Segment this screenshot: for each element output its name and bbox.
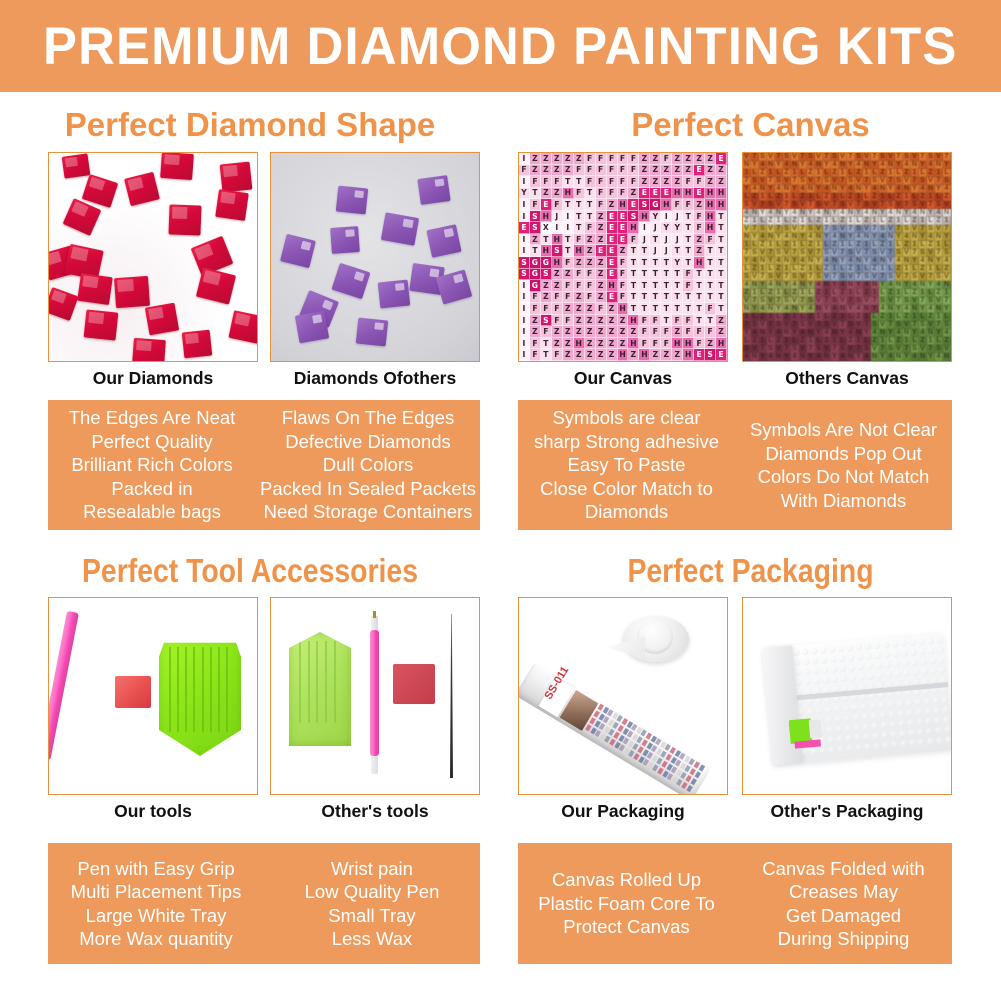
canvas-symbol-cell: Z bbox=[661, 165, 672, 177]
canvas-symbol-cell: T bbox=[541, 349, 552, 361]
canvas-symbol-cell: Z bbox=[563, 326, 574, 338]
canvas-symbol-cell: T bbox=[694, 315, 705, 327]
canvas-symbol-cell: F bbox=[618, 280, 629, 292]
canvas-symbol-cell: F bbox=[683, 315, 694, 327]
canvas-symbol-cell: F bbox=[607, 165, 618, 177]
canvas-symbol-cell: S bbox=[705, 349, 716, 361]
bubble bbox=[906, 709, 914, 717]
bubble bbox=[875, 662, 883, 670]
canvas-symbol-cell: F bbox=[585, 280, 596, 292]
canvas-symbol-cell: F bbox=[650, 315, 661, 327]
canvas-symbol-cell: E bbox=[607, 234, 618, 246]
bubble bbox=[892, 650, 900, 658]
diamond-drill bbox=[336, 186, 369, 215]
bubble bbox=[900, 740, 908, 748]
bubble bbox=[864, 743, 872, 751]
canvas-symbol-cell: J bbox=[672, 211, 683, 223]
canvas-symbol-cell: S bbox=[541, 315, 552, 327]
bubble bbox=[847, 654, 855, 662]
canvas-symbol-cell: H bbox=[607, 280, 618, 292]
bubble bbox=[860, 703, 868, 711]
tray-grooves bbox=[289, 632, 351, 746]
canvas-symbol-cell: T bbox=[661, 315, 672, 327]
canvas-symbol-cell: F bbox=[661, 326, 672, 338]
bubble bbox=[927, 637, 935, 645]
canvas-symbol-cell: Y bbox=[519, 188, 530, 200]
canvas-symbol-cell: T bbox=[639, 245, 650, 257]
bubble bbox=[909, 739, 917, 747]
section-title-tool-accessories: Perfect Tool Accessories bbox=[35, 552, 465, 590]
feature-line: Packed in bbox=[111, 477, 192, 501]
canvas-symbol-cell: I bbox=[519, 280, 530, 292]
canvas-symbol-cell: T bbox=[650, 269, 661, 281]
canvas-symbol-cell: T bbox=[661, 303, 672, 315]
canvas-symbol-cell: H bbox=[716, 199, 727, 211]
canvas-symbol-cell: F bbox=[563, 280, 574, 292]
bubble bbox=[902, 659, 910, 667]
canvas-symbol-cell: E bbox=[628, 199, 639, 211]
canvas-symbol-cell: Z bbox=[574, 326, 585, 338]
bubble bbox=[899, 730, 907, 738]
canvas-symbol-cell: E bbox=[519, 222, 530, 234]
canvas-symbol-cell: F bbox=[639, 326, 650, 338]
panel-diamond-shape: The Edges Are NeatPerfect QualityBrillia… bbox=[48, 400, 480, 530]
feature-line: Symbols Are Not Clear bbox=[750, 418, 937, 442]
canvas-symbol-cell: T bbox=[716, 292, 727, 304]
canvas-symbol-cell: S bbox=[519, 269, 530, 281]
canvas-symbol-cell: Z bbox=[672, 165, 683, 177]
bubble bbox=[945, 736, 952, 744]
bubble bbox=[816, 707, 824, 715]
canvas-symbol-cell: Z bbox=[574, 315, 585, 327]
caption-other-diamonds: Diamonds Ofothers bbox=[270, 368, 480, 389]
diamond-drill bbox=[417, 175, 450, 205]
canvas-symbol-cell: Z bbox=[607, 199, 618, 211]
feature-line: Canvas Folded with bbox=[762, 857, 924, 881]
bubble bbox=[825, 716, 833, 724]
canvas-symbol-cell: I bbox=[661, 211, 672, 223]
bubble bbox=[941, 696, 949, 704]
canvas-symbol-cell: H bbox=[628, 222, 639, 234]
diamond-drill bbox=[160, 152, 194, 180]
canvas-symbol-cell: Z bbox=[683, 165, 694, 177]
canvas-symbol-cell: S bbox=[639, 199, 650, 211]
bubble bbox=[829, 656, 837, 664]
canvas-symbol-cell: T bbox=[628, 245, 639, 257]
bubble bbox=[853, 724, 861, 732]
canvas-symbol-cell: F bbox=[705, 234, 716, 246]
our-diamonds-photo bbox=[48, 152, 258, 362]
canvas-symbol-cell: F bbox=[574, 165, 585, 177]
canvas-symbol-cell: H bbox=[705, 211, 716, 223]
caption-other-tools: Other's tools bbox=[270, 801, 480, 822]
bubble bbox=[912, 669, 920, 677]
bubble bbox=[858, 673, 866, 681]
bubble bbox=[856, 653, 864, 661]
bubble bbox=[884, 661, 892, 669]
canvas-symbol-cell: Z bbox=[618, 338, 629, 350]
canvas-symbol-cell: Z bbox=[618, 315, 629, 327]
bubble bbox=[907, 719, 915, 727]
canvas-symbol-cell: Z bbox=[552, 326, 563, 338]
canvas-symbol-cell: T bbox=[574, 222, 585, 234]
canvas-symbol-cell: Z bbox=[672, 153, 683, 165]
bubble bbox=[844, 725, 852, 733]
canvas-symbol-cell: T bbox=[694, 269, 705, 281]
canvas-symbol-cell: E bbox=[607, 211, 618, 223]
canvas-symbol-cell: J bbox=[672, 234, 683, 246]
canvas-symbol-cell: Z bbox=[596, 211, 607, 223]
bubble bbox=[944, 726, 952, 734]
canvas-symbol-cell: F bbox=[574, 269, 585, 281]
caption-other-canvas: Others Canvas bbox=[742, 368, 952, 389]
canvas-symbol-cell: T bbox=[650, 257, 661, 269]
our-canvas-photo: IZZZZZFFFFFZZFZZZZEFZZZZFFFFFFZZZZZEZZIF… bbox=[518, 152, 728, 362]
canvas-symbol-cell: H bbox=[618, 199, 629, 211]
canvas-symbol-cell: T bbox=[650, 303, 661, 315]
bubble bbox=[873, 642, 881, 650]
canvas-symbol-cell: E bbox=[607, 292, 618, 304]
feature-line: Need Storage Containers bbox=[264, 500, 473, 524]
bubble bbox=[930, 667, 938, 675]
bubble bbox=[821, 666, 829, 674]
canvas-symbol-cell: T bbox=[563, 199, 574, 211]
wax-square bbox=[115, 676, 151, 708]
caption-other-packaging: Other's Packaging bbox=[742, 801, 952, 822]
bubble bbox=[911, 659, 919, 667]
canvas-symbol-cell: I bbox=[563, 211, 574, 223]
feature-line: Plastic Foam Core To bbox=[538, 892, 715, 916]
canvas-symbol-cell: Z bbox=[541, 153, 552, 165]
canvas-symbol-cell: I bbox=[519, 211, 530, 223]
diamond-drill bbox=[378, 280, 411, 309]
canvas-symbol-cell: T bbox=[541, 338, 552, 350]
canvas-symbol-cell: I bbox=[519, 303, 530, 315]
canvas-symbol-cell: T bbox=[683, 245, 694, 257]
canvas-symbol-cell: T bbox=[694, 303, 705, 315]
bubble bbox=[936, 636, 944, 644]
diamond-drill bbox=[84, 309, 119, 340]
canvas-symbol-cell: Z bbox=[596, 292, 607, 304]
canvas-symbol-cell: T bbox=[694, 292, 705, 304]
canvas-symbol-cell: Z bbox=[563, 153, 574, 165]
bubble bbox=[855, 744, 863, 752]
bubble bbox=[933, 707, 941, 715]
canvas-symbol-cell: T bbox=[563, 245, 574, 257]
bubble bbox=[851, 704, 859, 712]
bubble bbox=[915, 708, 923, 716]
feature-line: Symbols are clear bbox=[552, 406, 700, 430]
bubble bbox=[871, 722, 879, 730]
canvas-symbol-cell: F bbox=[585, 292, 596, 304]
panel-column-ours: Canvas Rolled UpPlastic Foam Core ToProt… bbox=[518, 843, 735, 964]
panel-column-ours: Pen with Easy GripMulti Placement TipsLa… bbox=[48, 843, 264, 964]
panel-column-others: Wrist painLow Quality PenSmall TrayLess … bbox=[264, 843, 480, 964]
canvas-symbol-cell: Z bbox=[628, 349, 639, 361]
bubble bbox=[882, 641, 890, 649]
bubble bbox=[822, 676, 830, 684]
canvas-symbol-cell: Z bbox=[661, 349, 672, 361]
canvas-symbol-cell: S bbox=[530, 211, 541, 223]
canvas-symbol-cell: I bbox=[519, 199, 530, 211]
canvas-symbol-cell: H bbox=[628, 338, 639, 350]
bubble bbox=[827, 736, 835, 744]
canvas-symbol-cell: Z bbox=[607, 326, 618, 338]
canvas-symbol-cell: Z bbox=[574, 303, 585, 315]
canvas-symbol-cell: F bbox=[563, 315, 574, 327]
canvas-symbol-cell: E bbox=[618, 211, 629, 223]
canvas-symbol-cell: T bbox=[716, 211, 727, 223]
canvas-symbol-cell: H bbox=[618, 303, 629, 315]
canvas-symbol-cell: F bbox=[530, 199, 541, 211]
canvas-symbol-cell: F bbox=[530, 349, 541, 361]
bubble bbox=[936, 737, 944, 745]
canvas-symbol-cell: Z bbox=[639, 176, 650, 188]
canvas-symbol-cell: T bbox=[574, 199, 585, 211]
bubble bbox=[935, 727, 943, 735]
canvas-symbol-cell: E bbox=[661, 188, 672, 200]
panel-column-ours: The Edges Are NeatPerfect QualityBrillia… bbox=[48, 400, 256, 530]
canvas-symbol-cell: G bbox=[541, 257, 552, 269]
canvas-symbol-cell: Z bbox=[705, 153, 716, 165]
canvas-symbol-cell: F bbox=[596, 303, 607, 315]
bubble bbox=[929, 657, 937, 665]
canvas-symbol-cell: F bbox=[694, 338, 705, 350]
canvas-symbol-cell: T bbox=[683, 211, 694, 223]
canvas-symbol-cell: I bbox=[519, 234, 530, 246]
canvas-symbol-cell: S bbox=[628, 211, 639, 223]
canvas-symbol-cell: S bbox=[552, 245, 563, 257]
other-packaging-photo bbox=[742, 597, 952, 795]
bubble bbox=[872, 732, 880, 740]
canvas-symbol-cell: F bbox=[705, 303, 716, 315]
canvas-symbol-cell: F bbox=[596, 165, 607, 177]
canvas-symbol-cell: T bbox=[628, 257, 639, 269]
canvas-symbol-cell: T bbox=[683, 292, 694, 304]
bubble bbox=[842, 705, 850, 713]
canvas-symbol-cell: T bbox=[639, 303, 650, 315]
caption-our-tools: Our tools bbox=[48, 801, 258, 822]
bubble bbox=[812, 667, 820, 675]
canvas-symbol-cell: Z bbox=[596, 222, 607, 234]
bubble bbox=[916, 718, 924, 726]
canvas-symbol-cell: H bbox=[716, 188, 727, 200]
canvas-symbol-cell: T bbox=[705, 269, 716, 281]
bubble bbox=[873, 742, 881, 750]
diamond-drill bbox=[132, 338, 166, 362]
canvas-symbol-cell: F bbox=[530, 303, 541, 315]
canvas-symbol-cell: F bbox=[661, 338, 672, 350]
feature-line: Resealable bags bbox=[83, 500, 221, 524]
canvas-symbol-cell: T bbox=[563, 176, 574, 188]
canvas-symbol-cell: H bbox=[574, 338, 585, 350]
mailer-contents bbox=[789, 717, 826, 754]
bubble bbox=[928, 647, 936, 655]
bubble bbox=[890, 731, 898, 739]
bubble bbox=[852, 714, 860, 722]
canvas-symbol-cell: T bbox=[563, 234, 574, 246]
canvas-symbol-cell: Z bbox=[607, 315, 618, 327]
bubble bbox=[813, 677, 821, 685]
canvas-symbol-cell: Z bbox=[530, 165, 541, 177]
canvas-symbol-cell: Z bbox=[596, 326, 607, 338]
tube-pattern-cell bbox=[690, 778, 697, 785]
bubble bbox=[843, 715, 851, 723]
canvas-symbol-cell: E bbox=[607, 222, 618, 234]
canvas-symbol-cell: Z bbox=[552, 188, 563, 200]
feature-line: Less Wax bbox=[332, 927, 413, 951]
canvas-symbol-cell: H bbox=[683, 338, 694, 350]
canvas-symbol-cell: G bbox=[530, 269, 541, 281]
canvas-symbol-cell: I bbox=[519, 292, 530, 304]
bubble bbox=[927, 738, 935, 746]
diamond-drill bbox=[182, 330, 213, 359]
canvas-symbol-cell: F bbox=[530, 292, 541, 304]
canvas-symbol-cell: Z bbox=[585, 257, 596, 269]
bubble bbox=[937, 646, 945, 654]
canvas-symbol-cell: E bbox=[618, 222, 629, 234]
canvas-symbol-cell: T bbox=[628, 303, 639, 315]
feature-line: sharp Strong adhesive bbox=[534, 430, 719, 454]
feature-line: Defective Diamonds bbox=[285, 430, 451, 454]
canvas-symbol-cell: S bbox=[530, 222, 541, 234]
canvas-symbol-cell: F bbox=[694, 326, 705, 338]
diamond-drill bbox=[114, 276, 150, 308]
canvas-symbol-cell: E bbox=[694, 165, 705, 177]
canvas-symbol-cell: T bbox=[705, 257, 716, 269]
canvas-symbol-cell: T bbox=[530, 188, 541, 200]
feature-line: During Shipping bbox=[778, 927, 910, 951]
canvas-symbol-cell: J bbox=[552, 211, 563, 223]
diamond-drill bbox=[145, 303, 179, 336]
canvas-symbol-cell: T bbox=[672, 292, 683, 304]
tube-pattern-cell bbox=[686, 785, 693, 792]
bubble bbox=[810, 647, 818, 655]
canvas-symbol-cell: T bbox=[683, 257, 694, 269]
bubble bbox=[878, 702, 886, 710]
canvas-symbol-cell: T bbox=[694, 280, 705, 292]
canvas-symbol-cell: Z bbox=[672, 326, 683, 338]
tube-pattern-cell bbox=[698, 764, 705, 771]
other-tools-photo bbox=[270, 597, 480, 795]
bubble bbox=[828, 746, 836, 754]
canvas-symbol-cell: I bbox=[519, 153, 530, 165]
bubble bbox=[867, 673, 875, 681]
bubble bbox=[881, 732, 889, 740]
canvas-symbol-cell: F bbox=[607, 153, 618, 165]
bubble bbox=[925, 718, 933, 726]
canvas-symbol-cell: F bbox=[541, 176, 552, 188]
section-title-packaging: Perfect Packaging bbox=[535, 552, 966, 590]
canvas-symbol-cell: F bbox=[618, 188, 629, 200]
canvas-symbol-cell: Z bbox=[694, 234, 705, 246]
bubble bbox=[918, 638, 926, 646]
our-packaging-photo: SS-011 bbox=[518, 597, 728, 795]
canvas-symbol-cell: Z bbox=[585, 234, 596, 246]
canvas-symbol-cell: F bbox=[683, 326, 694, 338]
feature-line: The Edges Are Neat bbox=[69, 406, 236, 430]
section-title-canvas: Perfect Canvas bbox=[500, 106, 1001, 144]
canvas-symbol-cell: H bbox=[672, 188, 683, 200]
bubble bbox=[811, 657, 819, 665]
feature-line: Diamonds bbox=[585, 500, 668, 524]
canvas-symbol-cell: Z bbox=[596, 269, 607, 281]
bubble bbox=[918, 738, 926, 746]
feature-line: Brilliant Rich Colors bbox=[71, 453, 232, 477]
canvas-symbol-cell: T bbox=[650, 234, 661, 246]
canvas-symbol-cell: Z bbox=[628, 326, 639, 338]
canvas-symbol-cell: F bbox=[596, 199, 607, 211]
feature-line: Protect Canvas bbox=[563, 915, 689, 939]
diamond-drill bbox=[330, 226, 360, 254]
canvas-symbol-cell: F bbox=[683, 280, 694, 292]
canvas-symbol-cell: F bbox=[694, 211, 705, 223]
canvas-symbol-cell: Z bbox=[650, 176, 661, 188]
bubble bbox=[840, 675, 848, 683]
canvas-symbol-cell: F bbox=[563, 292, 574, 304]
canvas-symbol-cell: Z bbox=[585, 349, 596, 361]
canvas-symbol-cell: F bbox=[705, 326, 716, 338]
canvas-symbol-cell: T bbox=[639, 269, 650, 281]
canvas-symbol-cell: F bbox=[541, 326, 552, 338]
canvas-symbol-cell: F bbox=[607, 188, 618, 200]
bubble bbox=[836, 735, 844, 743]
canvas-symbol-cell: T bbox=[661, 280, 672, 292]
canvas-symbol-cell: F bbox=[639, 338, 650, 350]
canvas-symbol-cell: T bbox=[683, 222, 694, 234]
canvas-symbol-cell: Z bbox=[716, 176, 727, 188]
canvas-symbol-cell: T bbox=[530, 245, 541, 257]
caption-our-diamonds: Our Diamonds bbox=[48, 368, 258, 389]
canvas-symbol-cell: F bbox=[618, 269, 629, 281]
canvas-symbol-cell: Z bbox=[607, 338, 618, 350]
canvas-symbol-cell: E bbox=[541, 199, 552, 211]
tube-pattern-cell bbox=[694, 771, 701, 778]
bubble bbox=[870, 712, 878, 720]
canvas-symbol-cell: T bbox=[672, 280, 683, 292]
canvas-symbol-cell: F bbox=[585, 269, 596, 281]
canvas-symbol-cell: F bbox=[618, 292, 629, 304]
bubble-mailer bbox=[762, 632, 952, 765]
canvas-symbol-cell: F bbox=[672, 315, 683, 327]
bubble bbox=[883, 651, 891, 659]
canvas-symbol-cell: F bbox=[683, 176, 694, 188]
bubble bbox=[910, 649, 918, 657]
canvas-symbol-cell: F bbox=[552, 199, 563, 211]
canvas-symbol-cell: T bbox=[716, 303, 727, 315]
canvas-symbol-cell: T bbox=[716, 245, 727, 257]
canvas-symbol-cell: Z bbox=[650, 349, 661, 361]
canvas-symbol-cell: Z bbox=[552, 338, 563, 350]
page-header: PREMIUM DIAMOND PAINTING KITS bbox=[0, 0, 1001, 92]
panel-column-others: Canvas Folded withCreases MayGet Damaged… bbox=[735, 843, 952, 964]
canvas-symbol-cell: H bbox=[705, 199, 716, 211]
canvas-symbol-cell: Z bbox=[585, 303, 596, 315]
bubble bbox=[891, 640, 899, 648]
bubble bbox=[891, 741, 899, 749]
bubble bbox=[897, 710, 905, 718]
canvas-symbol-cell: T bbox=[661, 257, 672, 269]
feature-line: Get Damaged bbox=[786, 904, 901, 928]
canvas-symbol-cell: H bbox=[683, 349, 694, 361]
canvas-symbol-cell: I bbox=[552, 222, 563, 234]
bubble bbox=[798, 709, 806, 717]
panel-column-others: Symbols Are Not ClearDiamonds Pop OutCol… bbox=[735, 400, 952, 530]
feature-line: Canvas Rolled Up bbox=[552, 868, 701, 892]
canvas-symbol-cell: F bbox=[683, 199, 694, 211]
panel-canvas: Symbols are clearsharp Strong adhesiveEa… bbox=[518, 400, 952, 530]
canvas-symbol-cell: Z bbox=[541, 165, 552, 177]
